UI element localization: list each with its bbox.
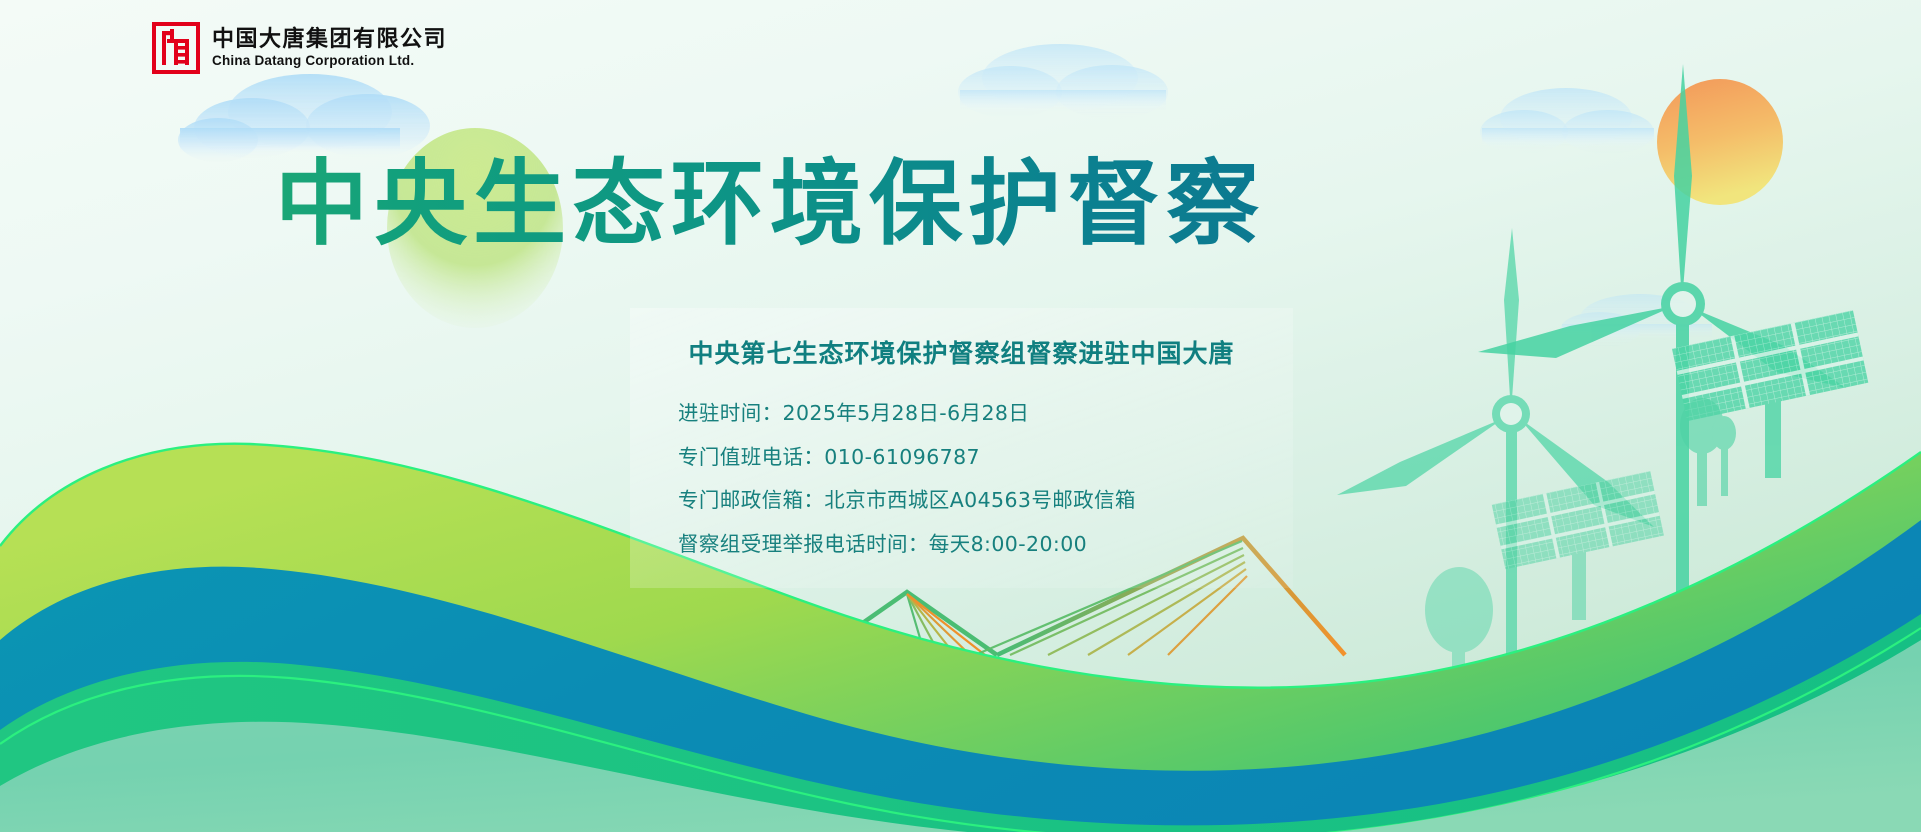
announcement-detail-list: 进驻时间：2025年5月28日-6月28日 专门值班电话：010-6109678… [678, 396, 1136, 570]
list-item: 督察组受理举报电话时间：每天8:00-20:00 [678, 527, 1136, 557]
brand-logo[interactable]: 中国大唐集团有限公司 China Datang Corporation Ltd. [152, 22, 447, 74]
page-title: 中央生态环境保护督察 [0, 152, 1540, 256]
list-item: 专门值班电话：010-61096787 [678, 440, 1136, 470]
banner-canvas: 中国大唐集团有限公司 China Datang Corporation Ltd.… [0, 0, 1921, 832]
announcement-panel: 中央第七生态环境保护督察组督察进驻中国大唐 进驻时间：2025年5月28日-6月… [630, 308, 1293, 588]
brand-name-cn: 中国大唐集团有限公司 [212, 29, 447, 51]
list-item: 进驻时间：2025年5月28日-6月28日 [678, 396, 1136, 426]
list-item: 专门邮政信箱：北京市西城区A04563号邮政信箱 [678, 483, 1136, 513]
brand-name-en: China Datang Corporation Ltd. [212, 54, 447, 68]
datang-seal-icon [152, 22, 200, 74]
announcement-subtitle: 中央第七生态环境保护督察组督察进驻中国大唐 [630, 334, 1293, 370]
